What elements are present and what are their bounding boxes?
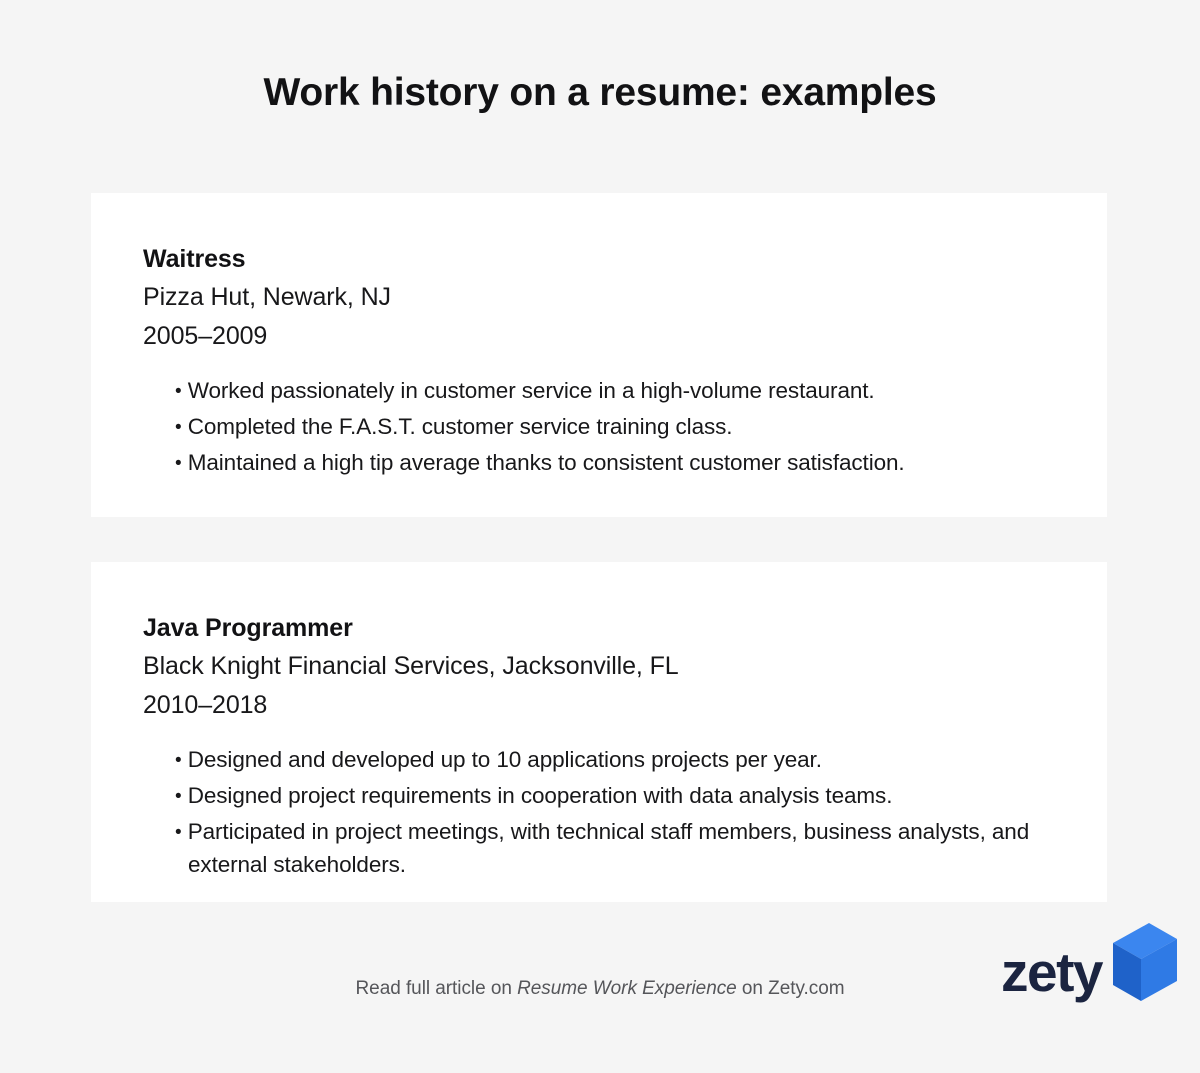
page-title: Work history on a resume: examples <box>0 70 1200 117</box>
bullet-icon: • <box>175 786 182 807</box>
list-item: • Completed the F.A.S.T. customer servic… <box>188 410 1067 444</box>
list-item-text: Completed the F.A.S.T. customer service … <box>188 414 733 439</box>
bullet-icon: • <box>175 453 182 474</box>
bullet-icon: • <box>175 750 182 771</box>
bullet-icon: • <box>175 822 182 843</box>
job-title: Java Programmer <box>143 610 1067 647</box>
list-item-text: Maintained a high tip average thanks to … <box>188 450 905 475</box>
footer-prefix: Read full article on <box>356 978 518 999</box>
list-item: • Worked passionately in customer servic… <box>188 374 1067 408</box>
job-dates: 2005–2009 <box>143 317 1067 356</box>
list-item-text: Designed project requirements in coopera… <box>188 783 893 808</box>
work-history-card: Waitress Pizza Hut, Newark, NJ 2005–2009… <box>91 193 1107 517</box>
job-bullet-list: • Designed and developed up to 10 applic… <box>143 743 1067 882</box>
list-item: • Designed and developed up to 10 applic… <box>188 743 1067 777</box>
infographic-page: Work history on a resume: examples Waitr… <box>0 0 1200 1073</box>
job-dates: 2010–2018 <box>143 686 1067 725</box>
list-item-text: Designed and developed up to 10 applicat… <box>188 747 822 772</box>
zety-wordmark: zety <box>1001 945 1102 1000</box>
bullet-icon: • <box>175 381 182 402</box>
list-item-text: Participated in project meetings, with t… <box>188 819 1029 878</box>
job-company: Black Knight Financial Services, Jackson… <box>143 647 1067 686</box>
list-item: • Participated in project meetings, with… <box>188 815 1067 883</box>
list-item-text: Worked passionately in customer service … <box>188 378 875 403</box>
footer-article-title: Resume Work Experience <box>517 978 737 999</box>
job-bullet-list: • Worked passionately in customer servic… <box>143 374 1067 479</box>
card-content: Waitress Pizza Hut, Newark, NJ 2005–2009… <box>91 193 1107 479</box>
list-item: • Maintained a high tip average thanks t… <box>188 446 1067 480</box>
job-company: Pizza Hut, Newark, NJ <box>143 278 1067 317</box>
zety-logo: zety <box>1001 921 1177 1003</box>
bullet-icon: • <box>175 417 182 438</box>
zety-arrow-icon <box>1109 921 1177 1003</box>
card-content: Java Programmer Black Knight Financial S… <box>91 562 1107 882</box>
job-title: Waitress <box>143 241 1067 278</box>
footer-suffix: on Zety.com <box>737 978 845 999</box>
work-history-card: Java Programmer Black Knight Financial S… <box>91 562 1107 902</box>
list-item: • Designed project requirements in coope… <box>188 779 1067 813</box>
